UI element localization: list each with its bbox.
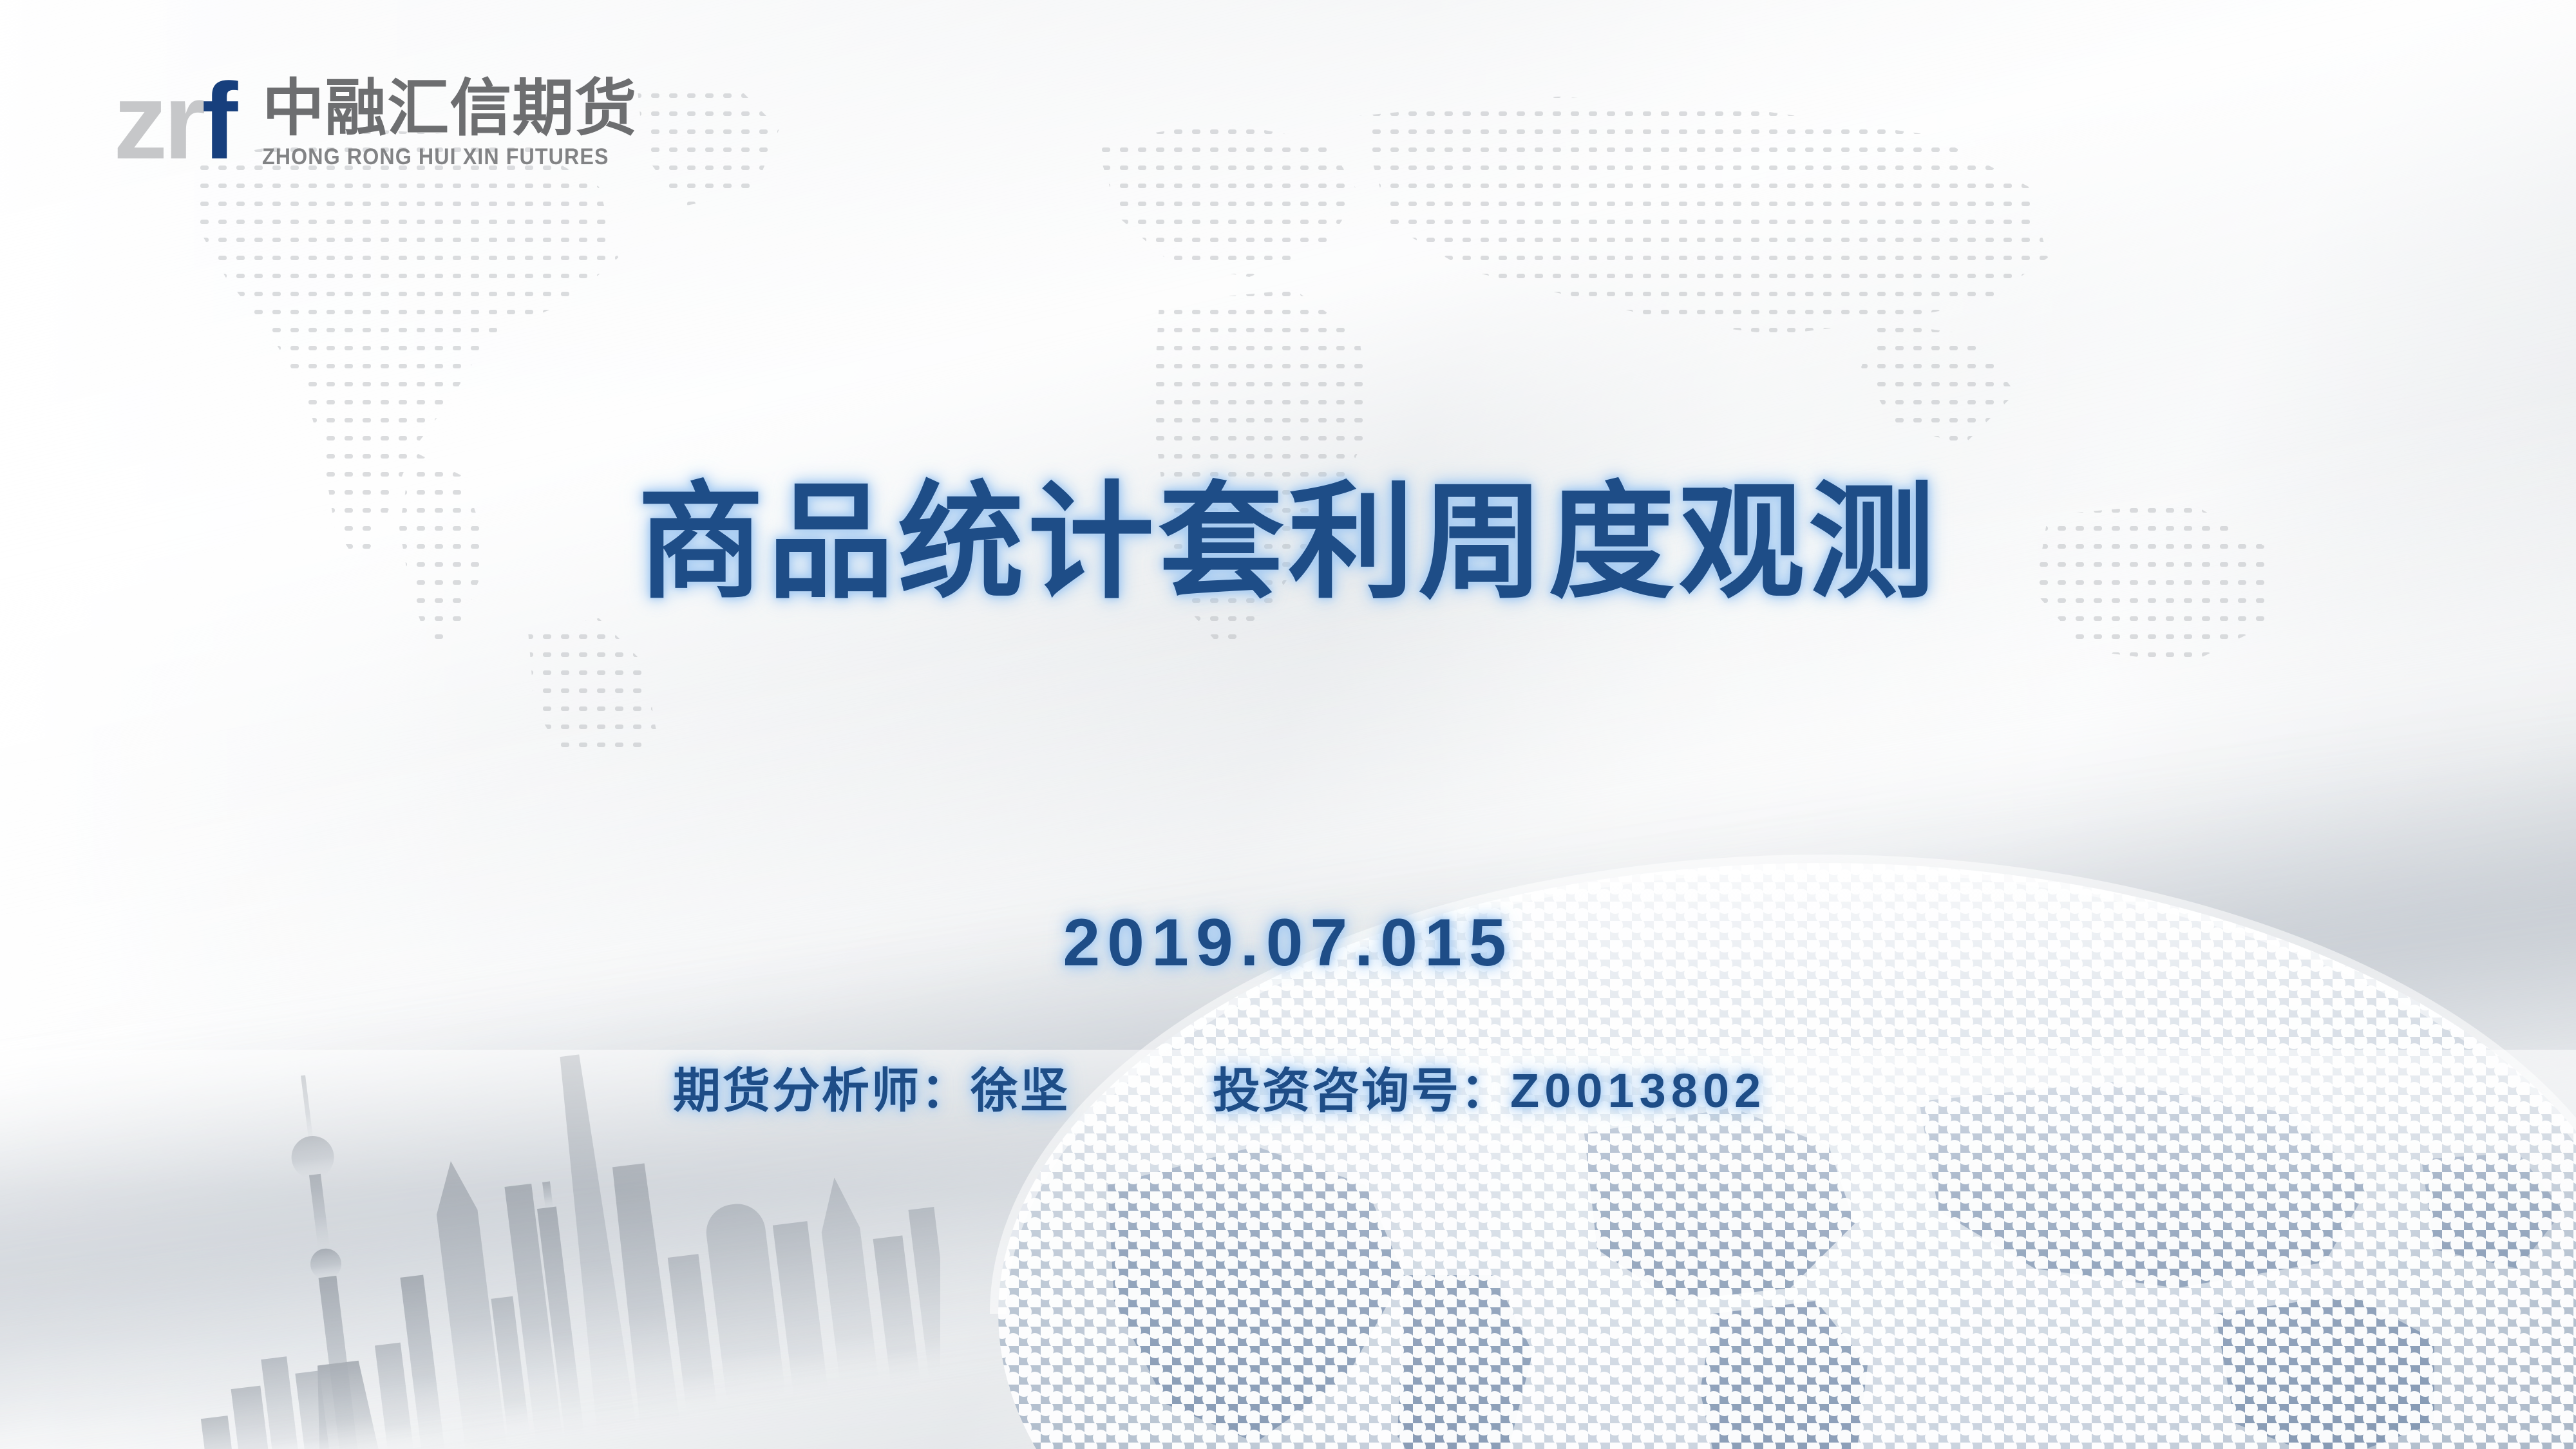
logo-wordmark: 中融汇信期货 ZHONG RONG HUI XIN FUTURES (262, 72, 639, 168)
license-number: Z0013802 (1510, 1067, 1766, 1115)
analyst-name: 徐坚 (971, 1067, 1070, 1115)
logo-monogram-f: f (202, 61, 234, 182)
page-title: 商品统计套利周度观测 (0, 480, 2576, 606)
analyst-label: 期货分析师： (673, 1067, 971, 1115)
credits-line: 期货分析师：徐坚投资咨询号：Z0013802 (673, 1067, 1766, 1115)
logo-monogram-zr: zr (113, 61, 202, 182)
logo-company-name-en: ZHONG RONG HUI XIN FUTURES (262, 146, 609, 168)
logo-company-name-cn: 中融汇信期货 (262, 77, 639, 139)
company-logo: zrf 中融汇信期货 ZHONG RONG HUI XIN FUTURES (113, 72, 639, 168)
logo-monogram-icon: zrf (113, 75, 234, 167)
title-slide: zrf 中融汇信期货 ZHONG RONG HUI XIN FUTURES 商品… (0, 0, 2576, 1449)
license-label: 投资咨询号： (1213, 1067, 1510, 1115)
report-date: 2019.07.015 (0, 909, 2576, 976)
